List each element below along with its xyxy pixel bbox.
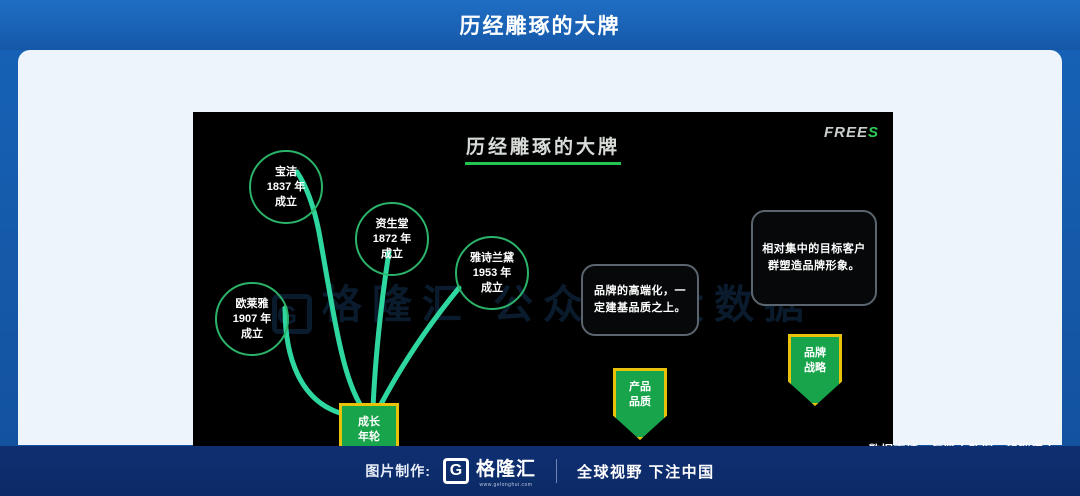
screenshot-root: 历经雕琢的大牌 G格隆汇 公众号 大数据 历经雕琢的大牌 FREES bbox=[0, 0, 1080, 496]
bubble-pg-name: 宝洁 bbox=[275, 165, 297, 180]
shield-brand-strategy-line2: 战略 bbox=[804, 361, 826, 376]
branch-esteelauder bbox=[379, 288, 459, 408]
slide-panel: G格隆汇 公众号 大数据 历经雕琢的大牌 FREES bbox=[193, 112, 893, 486]
bubble-pg[interactable]: 宝洁 1837 年 成立 bbox=[249, 150, 323, 224]
brand-g-icon: G bbox=[443, 458, 469, 484]
bubble-estee-lauder-founded: 成立 bbox=[481, 281, 503, 296]
brand-url: www.gelonghui.com bbox=[476, 482, 536, 488]
note-target-customers[interactable]: 相对集中的目标客户群塑造品牌形象。 bbox=[751, 210, 877, 306]
shield-growth-rings-line2: 年轮 bbox=[358, 430, 380, 445]
bubble-estee-lauder-year: 1953 年 bbox=[473, 266, 512, 281]
bubble-loreal-founded: 成立 bbox=[241, 327, 263, 342]
bubble-shiseido-name: 资生堂 bbox=[376, 217, 409, 232]
bubble-pg-year: 1837 年 bbox=[267, 180, 306, 195]
shield-growth-rings-line1: 成长 bbox=[358, 415, 380, 430]
bubble-pg-founded: 成立 bbox=[275, 195, 297, 210]
page-title: 历经雕琢的大牌 bbox=[460, 10, 621, 40]
footer-made-by-label: 图片制作: bbox=[365, 461, 431, 481]
bubble-shiseido-year: 1872 年 bbox=[373, 232, 412, 247]
bubble-loreal-name: 欧莱雅 bbox=[236, 297, 269, 312]
page-header: 历经雕琢的大牌 bbox=[0, 0, 1080, 50]
bubble-estee-lauder[interactable]: 雅诗兰黛 1953 年 成立 bbox=[455, 236, 529, 310]
brand-logo[interactable]: G 格隆汇 www.gelonghui.com bbox=[443, 454, 536, 488]
bubble-shiseido[interactable]: 资生堂 1872 年 成立 bbox=[355, 202, 429, 276]
bubble-estee-lauder-name: 雅诗兰黛 bbox=[470, 251, 514, 266]
footer-divider bbox=[556, 459, 557, 483]
shield-brand-strategy-line1: 品牌 bbox=[804, 346, 826, 361]
brand-name: 格隆汇 bbox=[476, 459, 536, 480]
shield-product-quality-line1: 产品 bbox=[629, 380, 651, 395]
page-footer: 图片制作: G 格隆汇 www.gelonghui.com 全球视野 下注中国 bbox=[0, 446, 1080, 496]
shield-product-quality-line2: 品质 bbox=[629, 395, 651, 410]
bubble-loreal[interactable]: 欧莱雅 1907 年 成立 bbox=[215, 282, 289, 356]
footer-slogan: 全球视野 下注中国 bbox=[577, 461, 715, 482]
branch-loreal bbox=[285, 308, 361, 417]
bubble-shiseido-founded: 成立 bbox=[381, 247, 403, 262]
content-card: G格隆汇 公众号 大数据 历经雕琢的大牌 FREES bbox=[18, 50, 1062, 445]
note-brand-premium[interactable]: 品牌的高端化，一定建基品质之上。 bbox=[581, 264, 699, 336]
bubble-loreal-year: 1907 年 bbox=[233, 312, 272, 327]
